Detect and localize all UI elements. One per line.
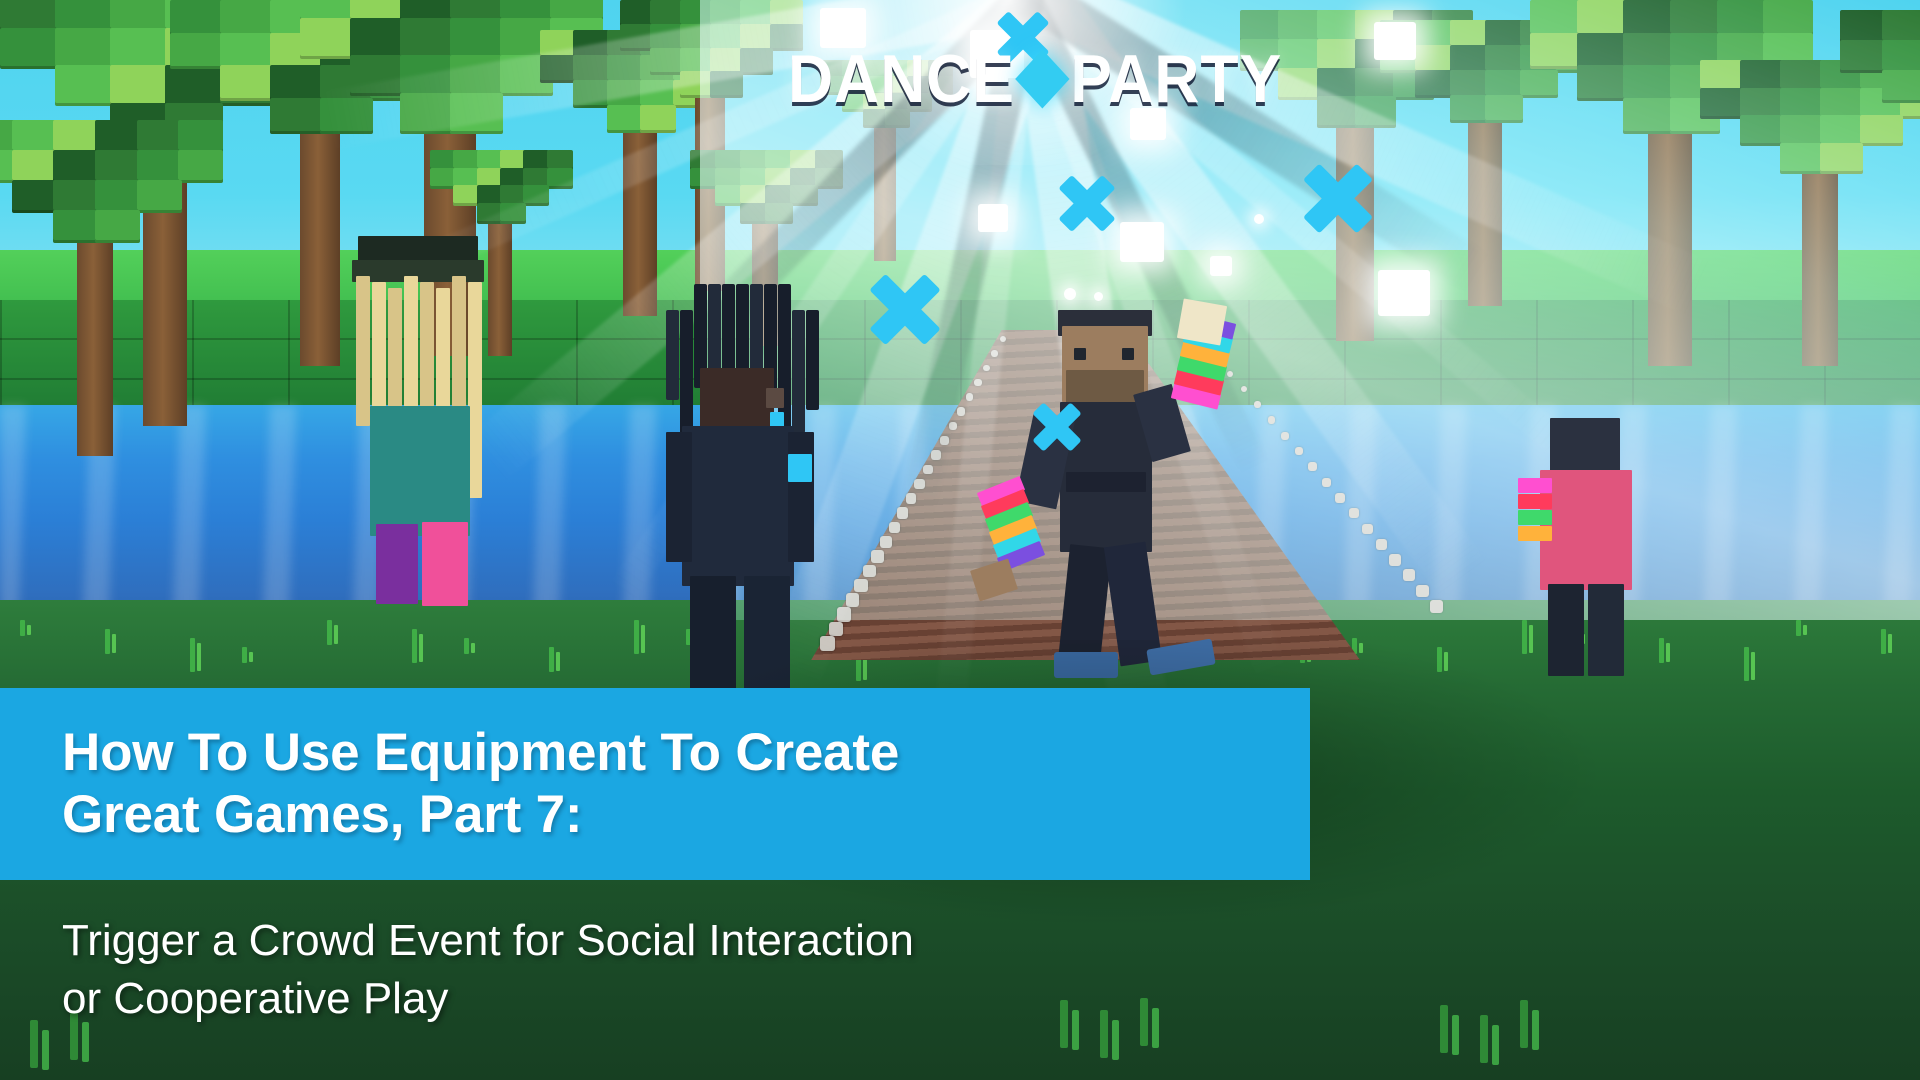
character-edge-right	[1526, 418, 1646, 678]
spotlight-flare-8	[1210, 256, 1232, 276]
headline-line-1: How To Use Equipment To Create	[62, 722, 1310, 784]
subtitle-line-1: Trigger a Crowd Event for Social Interac…	[62, 912, 1262, 970]
char-leg-right	[422, 522, 468, 606]
char-dread	[806, 310, 819, 410]
char-rainbow-cuff	[1518, 494, 1552, 509]
character-blonde	[330, 236, 510, 596]
char-wristband	[788, 454, 812, 482]
char-dread	[666, 310, 679, 400]
char-eye-left	[1074, 348, 1086, 360]
spotlight-flare-6	[978, 204, 1008, 232]
char-torso	[682, 426, 794, 586]
x-mark-4	[1030, 400, 1084, 454]
char-belt	[1066, 472, 1146, 492]
char-eye-right	[1122, 348, 1134, 360]
char-dread	[736, 284, 749, 379]
char-hair-strand	[356, 276, 370, 426]
game-logo-word-dance: DANCE	[788, 45, 1015, 113]
x-mark-2	[1056, 172, 1118, 234]
diamond-icon	[1015, 49, 1069, 108]
char-torso	[370, 406, 470, 536]
headline-banner: How To Use Equipment To Create Great Gam…	[0, 688, 1310, 880]
char-head	[1550, 418, 1620, 476]
subtitle-block: Trigger a Crowd Event for Social Interac…	[62, 912, 1262, 1028]
spotlight-flare-5	[1120, 222, 1164, 262]
character-bearded-dancer	[1030, 296, 1250, 686]
char-hair-strand	[468, 282, 482, 498]
game-logo-word-party: PARTY	[1070, 45, 1282, 113]
light-dot-3	[1254, 214, 1264, 224]
char-torso	[1540, 470, 1632, 590]
char-head	[700, 368, 774, 430]
character-dreadlocks	[648, 276, 838, 696]
x-mark-1	[866, 270, 944, 348]
char-leg-left	[376, 524, 418, 604]
char-dread	[778, 284, 791, 430]
char-dread	[792, 310, 805, 433]
char-arm-right	[788, 432, 814, 562]
char-hand-right	[1177, 298, 1227, 345]
char-rainbow-cuff	[1518, 526, 1552, 541]
subtitle-line-2: or Cooperative Play	[62, 970, 1262, 1028]
spotlight-flare-7	[1378, 270, 1430, 316]
char-dread	[680, 310, 693, 437]
char-beard	[1066, 370, 1144, 404]
screenshot-stage: DANCE PARTY How To Use Equipment To Crea…	[0, 0, 1920, 1080]
char-rainbow-cuff	[1518, 510, 1552, 525]
char-rainbow-cuff	[1518, 478, 1552, 493]
game-logo: DANCE PARTY	[819, 38, 1251, 120]
char-ear	[766, 388, 784, 408]
char-arm-left	[666, 432, 692, 562]
x-mark-3	[1300, 160, 1376, 236]
headline-line-2: Great Games, Part 7:	[62, 784, 1310, 846]
spotlight-flare-3	[1374, 22, 1416, 60]
